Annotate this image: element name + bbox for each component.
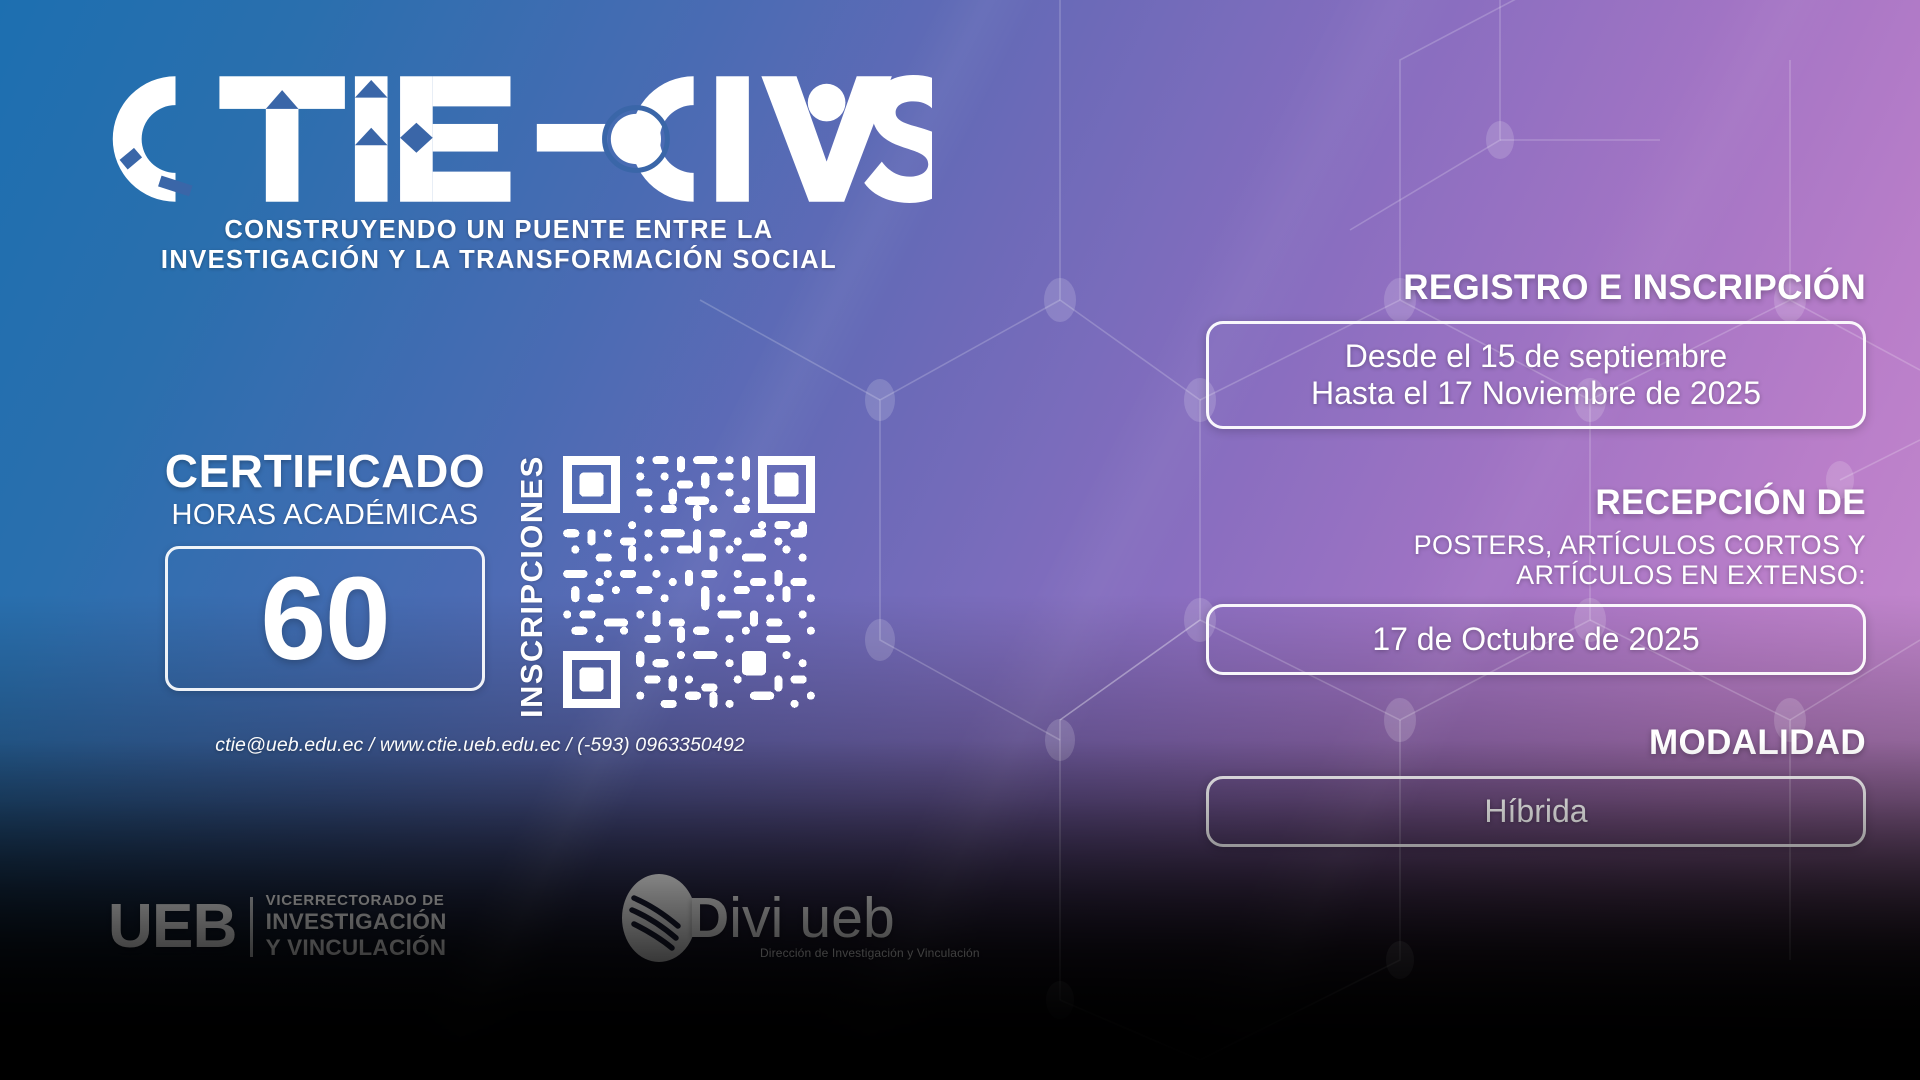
ueb-logo-mark: UEB bbox=[108, 899, 237, 955]
divi-ueb-word-bold: D bbox=[688, 886, 729, 950]
info-panel-spacer-1 bbox=[1206, 429, 1866, 485]
info-panel-spacer-2 bbox=[1206, 675, 1866, 725]
ueb-logo-line1: VICERRECTORADO DE bbox=[266, 892, 447, 909]
ueb-logo-divider bbox=[250, 897, 253, 957]
certificate-hours-value: 60 bbox=[261, 560, 390, 678]
certificate-block: CERTIFICADO HORAS ACADÉMICAS 60 bbox=[160, 448, 490, 691]
divi-ueb-logo: Divi ueb Dirección de Investigación y Vi… bbox=[622, 874, 895, 962]
brand-tagline: CONSTRUYENDO UN PUENTE ENTRE LA INVESTIG… bbox=[104, 216, 894, 276]
ueb-logo-line2: INVESTIGACIÓN bbox=[266, 909, 447, 935]
certificate-subtitle: HORAS ACADÉMICAS bbox=[160, 501, 490, 530]
brand-block: CONSTRUYENDO UN PUENTE ENTRE LA INVESTIG… bbox=[104, 70, 944, 276]
divi-ueb-logo-mark bbox=[622, 874, 696, 962]
ueb-logo: UEB VICERRECTORADO DE INVESTIGACIÓN Y VI… bbox=[108, 892, 447, 962]
info-section-registro-value-line1: Desde el 15 de septiembre bbox=[1229, 338, 1843, 375]
ctie-civs-logo bbox=[104, 70, 944, 208]
info-panel: REGISTRO E INSCRIPCIÓN Desde el 15 de se… bbox=[1206, 270, 1866, 847]
info-section-recepcion-subheading: POSTERS, ARTÍCULOS CORTOS Y ARTÍCULOS EN… bbox=[1206, 530, 1866, 590]
info-section-registro: REGISTRO E INSCRIPCIÓN Desde el 15 de se… bbox=[1206, 270, 1866, 429]
qr-label-inscripciones: INSCRIPCIONES bbox=[516, 448, 547, 718]
info-section-recepcion-subheading-line1: POSTERS, ARTÍCULOS CORTOS Y bbox=[1206, 530, 1866, 560]
info-section-modalidad-value: Híbrida bbox=[1206, 776, 1866, 847]
ctie-civs-logo-mark bbox=[104, 70, 932, 208]
info-section-recepcion: RECEPCIÓN DE POSTERS, ARTÍCULOS CORTOS Y… bbox=[1206, 485, 1866, 675]
divi-ueb-wordmark: Divi ueb bbox=[688, 890, 895, 947]
certificate-and-qr-block: CERTIFICADO HORAS ACADÉMICAS 60 INSCRIPC… bbox=[160, 448, 823, 718]
poster-canvas: CONSTRUYENDO UN PUENTE ENTRE LA INVESTIG… bbox=[0, 0, 1920, 1080]
info-section-recepcion-subheading-line2: ARTÍCULOS EN EXTENSO: bbox=[1206, 560, 1866, 590]
certificate-hours-box: 60 bbox=[165, 546, 485, 691]
brand-tagline-line1: CONSTRUYENDO UN PUENTE ENTRE LA bbox=[104, 216, 894, 246]
info-section-modalidad-heading: MODALIDAD bbox=[1206, 725, 1866, 762]
qr-block: INSCRIPCIONES bbox=[516, 448, 823, 718]
divi-ueb-word-rest: ivi ueb bbox=[729, 886, 895, 950]
info-section-recepcion-heading: RECEPCIÓN DE bbox=[1206, 485, 1866, 522]
info-section-modalidad: MODALIDAD Híbrida bbox=[1206, 725, 1866, 847]
divi-ueb-tagline: Dirección de Investigación y Vinculación bbox=[760, 946, 980, 960]
contact-info: ctie@ueb.edu.ec / www.ctie.ueb.edu.ec / … bbox=[160, 734, 800, 757]
divi-ueb-logo-text: Divi ueb Dirección de Investigación y Vi… bbox=[688, 890, 895, 947]
ueb-logo-line3: Y VINCULACIÓN bbox=[266, 935, 447, 961]
certificate-title: CERTIFICADO bbox=[160, 448, 490, 494]
info-section-modalidad-value-line1: Híbrida bbox=[1229, 793, 1843, 830]
brand-tagline-line2: INVESTIGACIÓN Y LA TRANSFORMACIÓN SOCIAL bbox=[104, 246, 894, 276]
ueb-logo-text: VICERRECTORADO DE INVESTIGACIÓN Y VINCUL… bbox=[266, 892, 447, 962]
info-section-registro-value: Desde el 15 de septiembre Hasta el 17 No… bbox=[1206, 321, 1866, 429]
info-section-recepcion-value: 17 de Octubre de 2025 bbox=[1206, 604, 1866, 675]
info-section-registro-value-line2: Hasta el 17 Noviembre de 2025 bbox=[1229, 375, 1843, 412]
qr-code-image[interactable] bbox=[555, 448, 823, 716]
info-section-registro-heading: REGISTRO E INSCRIPCIÓN bbox=[1206, 270, 1866, 307]
info-section-recepcion-value-line1: 17 de Octubre de 2025 bbox=[1229, 621, 1843, 658]
